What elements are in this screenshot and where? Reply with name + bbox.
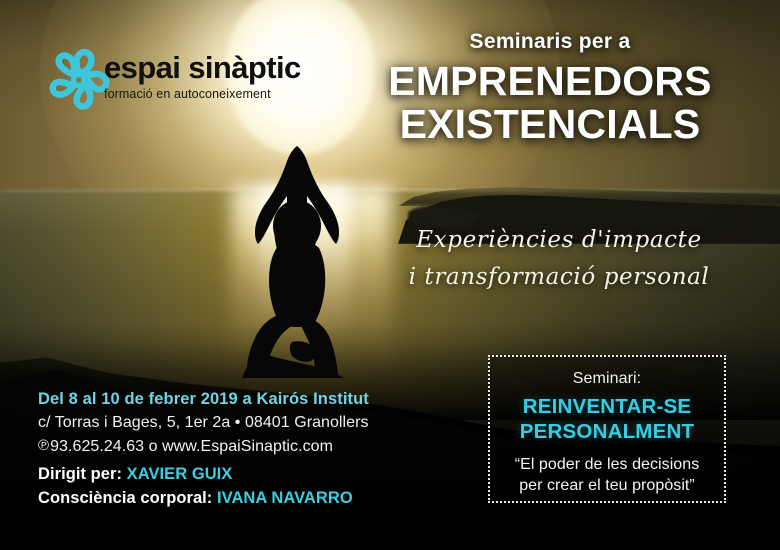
kicker-text: Seminaris per a [360, 30, 740, 54]
seminar-label: Seminari: [490, 369, 724, 388]
logo-tagline: formació en autoconeixement [104, 88, 304, 101]
seminar-quote: “El poder de les decisions per crear el … [490, 454, 724, 496]
logo-wordmark: espai sinàptic formació en autoconeixeme… [104, 52, 304, 101]
seminar-quote-line-1: “El poder de les decisions [490, 454, 724, 475]
seminar-quote-line-2: per crear el teu propòsit” [490, 475, 724, 496]
event-address: c/ Torras i Bages, 5, 1er 2a • 08401 Gra… [38, 411, 458, 434]
event-dates: Del 8 al 10 de febrer 2019 a Kairós Inst… [38, 388, 458, 411]
seminar-title-line-1: REINVENTAR-SE [490, 394, 724, 419]
credit-body-name: IVANA NAVARRO [217, 489, 353, 507]
headings: Seminaris per a EMPRENEDORS EXISTENCIALS [360, 30, 740, 146]
script-tagline: Experiències d'impacte i transformació p… [394, 222, 724, 297]
credit-body: Consciència corporal: IVANA NAVARRO [38, 486, 468, 510]
headline-line-1: EMPRENEDORS [360, 60, 740, 103]
tagline-line-2: i transformació personal [394, 259, 724, 296]
poster: espai sinàptic formació en autoconeixeme… [0, 0, 780, 550]
tagline-line-1: Experiències d'impacte [394, 222, 724, 259]
credit-director-label: Dirigit per: [38, 465, 122, 483]
logo[interactable]: espai sinàptic formació en autoconeixeme… [42, 40, 302, 120]
phone-icon: ℗ [38, 435, 49, 457]
headline-line-2: EXISTENCIALS [360, 103, 740, 146]
credit-director: Dirigit per: XAVIER GUIX [38, 462, 468, 486]
credit-body-label: Consciència corporal: [38, 489, 212, 507]
seminar-title: REINVENTAR-SE PERSONALMENT [490, 394, 724, 444]
seminar-box[interactable]: Seminari: REINVENTAR-SE PERSONALMENT “El… [488, 355, 726, 503]
contact-text: 93.625.24.63 o www.EspaiSinaptic.com [50, 438, 333, 455]
logo-name: espai sinàptic [104, 52, 304, 83]
event-info: Del 8 al 10 de febrer 2019 a Kairós Inst… [38, 388, 458, 458]
credits: Dirigit per: XAVIER GUIX Consciència cor… [38, 462, 468, 511]
credit-director-name: XAVIER GUIX [127, 465, 233, 483]
seminar-title-line-2: PERSONALMENT [490, 419, 724, 444]
yoga-silhouette [212, 128, 382, 378]
event-contact[interactable]: ℗93.625.24.63 o www.EspaiSinaptic.com [38, 435, 458, 458]
headline: EMPRENEDORS EXISTENCIALS [360, 60, 740, 146]
